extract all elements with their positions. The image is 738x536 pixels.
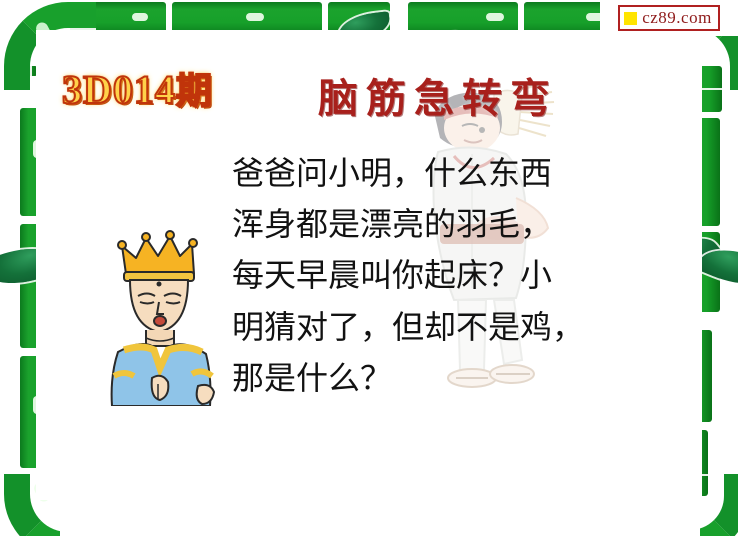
watermark-square-icon xyxy=(624,12,637,25)
issue-number: 3D014 xyxy=(62,67,176,112)
watermark-box: cz89.com xyxy=(618,5,720,31)
riddle-line: 每天早晨叫你起床？小 xyxy=(232,254,642,296)
content-panel-extension xyxy=(60,440,700,536)
riddle-line: 那是什么？ xyxy=(232,357,642,399)
bamboo-leaf-right-inner xyxy=(696,238,738,296)
watermark-text: cz89.com xyxy=(642,8,712,28)
bamboo-segment-left-0 xyxy=(4,66,38,76)
issue-suffix: 期 xyxy=(176,71,213,112)
riddle-line: 爸爸问小明，什么东西 xyxy=(232,152,642,194)
section-title: 脑筋急转弯 xyxy=(318,66,558,124)
page-title-issue: 3D014期 xyxy=(62,62,213,114)
bamboo-node-highlight xyxy=(246,13,264,21)
watermark: cz89.com xyxy=(600,0,738,36)
bamboo-node-highlight xyxy=(486,13,504,21)
bamboo-node-highlight xyxy=(132,13,148,21)
riddle-line: 明猜对了，但却不是鸡， xyxy=(232,306,642,348)
riddle-text: 爸爸问小明，什么东西 浑身都是漂亮的羽毛， 每天早晨叫你起床？小 明猜对了，但却… xyxy=(232,152,642,408)
lottery-riddle-poster: 3D014期 脑筋急转弯 爸爸问小明，什么东西 浑身都是漂亮的羽毛， 每天早晨叫… xyxy=(0,0,738,536)
riddle-line: 浑身都是漂亮的羽毛， xyxy=(232,203,642,245)
crowned-deity-figure xyxy=(100,226,226,406)
